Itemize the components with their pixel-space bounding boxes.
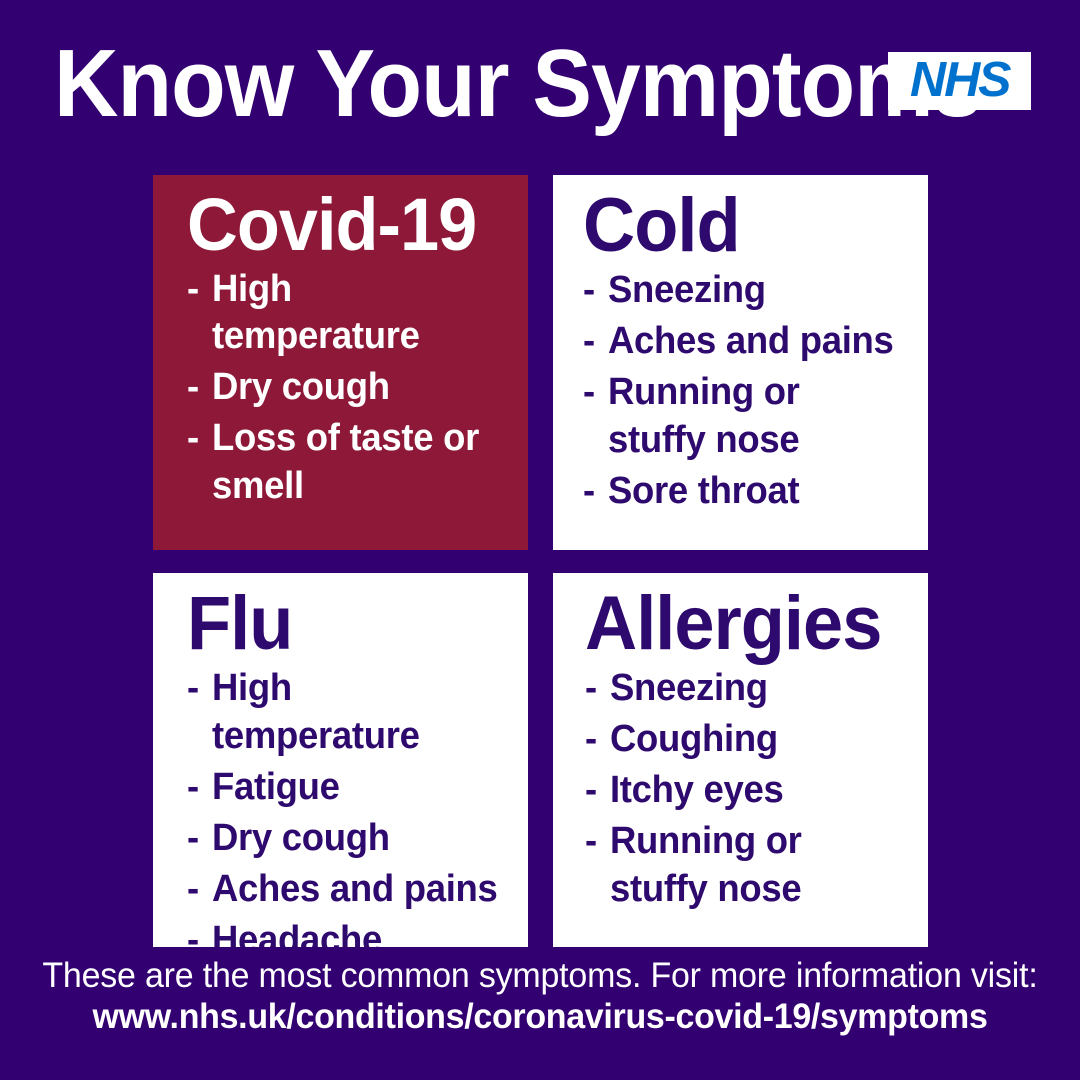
symptom-card-cold: Cold-Sneezing-Aches and pains-Running or… (553, 175, 928, 550)
symptom-label: Headache (212, 919, 382, 947)
footer-url: www.nhs.uk/conditions/coronavirus-covid-… (16, 996, 1064, 1039)
symptom-label: Loss of taste or smell (212, 417, 479, 507)
list-item: -High temperature (187, 665, 501, 761)
bullet-dash-icon: - (583, 267, 595, 315)
symptom-label: Sneezing (610, 667, 768, 709)
list-item: -Sneezing (583, 267, 901, 315)
card-title-allergies: Allergies (585, 587, 898, 661)
list-item: -Aches and pains (187, 866, 501, 914)
symptom-label: High temperature (212, 667, 420, 757)
poster-header: Know Your Symptoms NHS (0, 0, 1080, 175)
symptom-list-covid: -High temperature-Dry cough-Loss of tast… (187, 266, 514, 511)
bullet-dash-icon: - (585, 767, 597, 815)
page-title: Know Your Symptoms (54, 36, 981, 132)
bullet-dash-icon: - (585, 818, 597, 866)
list-item: -Fatigue (187, 764, 501, 812)
symptom-label: Itchy eyes (610, 769, 784, 811)
symptom-label: Aches and pains (212, 868, 498, 910)
bullet-dash-icon: - (583, 468, 595, 516)
symptom-label: Fatigue (212, 766, 340, 808)
footer-note: These are the most common symptoms. For … (16, 955, 1064, 996)
symptom-label: Dry cough (212, 366, 390, 408)
list-item: -Dry cough (187, 815, 501, 863)
symptom-card-allergies: Allergies-Sneezing-Coughing-Itchy eyes-R… (553, 573, 928, 947)
list-item: -Sneezing (585, 665, 901, 713)
bullet-dash-icon: - (583, 318, 595, 366)
list-item: -Coughing (585, 716, 901, 764)
bullet-dash-icon: - (187, 764, 199, 812)
symptom-list-flu: -High temperature-Fatigue-Dry cough-Ache… (187, 665, 514, 947)
symptom-list-cold: -Sneezing-Aches and pains-Running or stu… (583, 267, 914, 515)
bullet-dash-icon: - (187, 364, 199, 412)
symptom-label: High temperature (212, 268, 420, 358)
card-title-cold: Cold (583, 189, 897, 263)
nhs-logo-text: NHS (910, 56, 1009, 105)
bullet-dash-icon: - (187, 415, 199, 463)
bullet-dash-icon: - (187, 665, 199, 713)
list-item: -Running or stuffy nose (585, 818, 901, 914)
symptom-card-covid: Covid-19-High temperature-Dry cough-Loss… (153, 175, 528, 550)
symptom-label: Running or stuffy nose (608, 371, 800, 461)
symptom-label: Coughing (610, 718, 778, 760)
list-item: -Headache (187, 917, 501, 947)
bullet-dash-icon: - (187, 266, 199, 314)
card-title-flu: Flu (187, 587, 498, 661)
poster-canvas: Know Your Symptoms NHS Covid-19-High tem… (0, 0, 1080, 1080)
symptom-label: Sore throat (608, 470, 799, 512)
bullet-dash-icon: - (585, 716, 597, 764)
list-item: -Dry cough (187, 364, 501, 412)
list-item: -Sore throat (583, 468, 901, 516)
bullet-dash-icon: - (187, 866, 199, 914)
symptom-label: Running or stuffy nose (610, 820, 802, 910)
symptom-label: Dry cough (212, 817, 390, 859)
card-title-covid: Covid-19 (187, 189, 498, 262)
bullet-dash-icon: - (187, 815, 199, 863)
symptom-label: Aches and pains (608, 320, 894, 362)
symptom-list-allergies: -Sneezing-Coughing-Itchy eyes-Running or… (585, 665, 914, 913)
list-item: -Itchy eyes (585, 767, 901, 815)
list-item: -Aches and pains (583, 318, 901, 366)
symptom-label: Sneezing (608, 269, 766, 311)
symptom-card-flu: Flu-High temperature-Fatigue-Dry cough-A… (153, 573, 528, 947)
poster-footer: These are the most common symptoms. For … (0, 955, 1080, 1039)
list-item: -High temperature (187, 266, 501, 362)
nhs-logo: NHS (888, 52, 1031, 110)
symptom-card-grid: Covid-19-High temperature-Dry cough-Loss… (153, 175, 928, 947)
list-item: -Loss of taste or smell (187, 415, 501, 511)
bullet-dash-icon: - (187, 917, 199, 947)
bullet-dash-icon: - (585, 665, 597, 713)
list-item: -Running or stuffy nose (583, 369, 901, 465)
bullet-dash-icon: - (583, 369, 595, 417)
